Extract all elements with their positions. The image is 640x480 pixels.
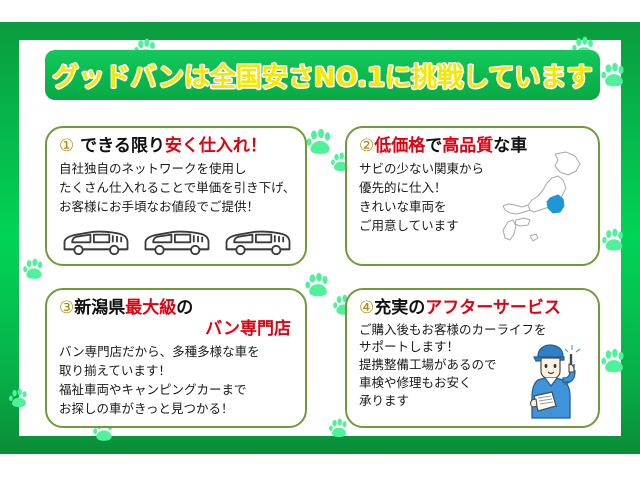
paw-print-icon-center-lower	[304, 272, 332, 300]
panel-3-body-line-3: 福祉車両やキャンピングカーまで	[59, 380, 297, 399]
panel-3-body-line-4: お探しの車がきっと見つかる！	[59, 399, 297, 418]
panel-1-heading-part-1: できる限り	[80, 136, 165, 156]
page-title: グッドバンは全国安さNO.1に挑戦しています	[53, 57, 593, 94]
sparkle-icon	[565, 345, 580, 352]
panel-3-heading-line-2: バン専門店	[47, 320, 305, 340]
feature-panel-4: ④充実のアフターサービス ご購入後もお客様のカーライフを サポートします！ 提携…	[345, 288, 600, 428]
holding-hand	[531, 399, 537, 407]
panel-3-heading-part-2: 最大級	[125, 298, 176, 318]
face	[541, 358, 560, 379]
panel-2-heading-part-2: で	[425, 136, 442, 156]
panel-1-body-line-3: お客様にお手頃なお値段でご提供！	[59, 197, 297, 216]
paw-print-icon-right-lower	[600, 348, 628, 376]
panel-2-heading-part-1: 低価格	[374, 136, 425, 156]
panel-4-heading-part-2: アフターサービス	[425, 298, 561, 318]
panel-1-body: 自社独自のネットワークを使用し たくさん仕入れることで単価を引き下げ、 お客様に…	[47, 157, 305, 216]
panel-1-number: ①	[59, 136, 74, 156]
panel-3-heading: ③新潟県最大級の	[47, 299, 305, 319]
van-icon-3	[223, 228, 293, 258]
panel-2-number: ②	[359, 136, 374, 156]
panel-4-heading-part-1: 充実の	[374, 298, 425, 318]
paw-print-icon-left-edge	[8, 388, 30, 410]
paw-print-icon-right-mid	[601, 228, 627, 254]
japan-map-icon	[500, 150, 592, 254]
feature-panel-3: ③新潟県最大級の バン専門店 バン専門店だから、多種多様な車を 取り揃えています…	[45, 288, 307, 428]
poster-title-banner: グッドバンは全国安さNO.1に挑戦しています	[45, 50, 600, 100]
van-illustration-row	[61, 228, 293, 258]
paw-print-icon-bottom-center	[328, 418, 350, 440]
panel-3-body-line-2: 取り揃えています！	[59, 361, 297, 380]
mechanic-illustration	[524, 340, 586, 422]
feature-panel-1: ① できる限り安く仕入れ！ 自社独自のネットワークを使用し たくさん仕入れること…	[45, 126, 307, 266]
panel-3-heading-part-1: 新潟県	[74, 298, 125, 318]
van-icon-2	[142, 228, 212, 258]
feature-panel-2: ②低価格で高品質な車 サビの少ない関東から 優先的に仕入！ きれいな車両を ご用…	[345, 126, 600, 266]
paw-print-icon-center-top	[305, 128, 335, 158]
panel-4-body-line-1: ご購入後もお客様のカーライフを	[359, 321, 590, 339]
cap	[537, 345, 563, 358]
paw-print-icon-left-lower	[22, 258, 46, 282]
panel-1-heading: ① できる限り安く仕入れ！	[47, 137, 305, 157]
panel-1-body-line-2: たくさん仕入れることで単価を引き下げ、	[59, 178, 297, 197]
paw-print-icon-right-upper	[600, 62, 628, 90]
panel-1-body-line-1: 自社独自のネットワークを使用し	[59, 159, 297, 178]
panel-4-heading: ④充実のアフターサービス	[347, 299, 598, 319]
panel-3-heading-part-3: の	[176, 298, 193, 318]
panel-3-body: バン専門店だから、多種多様な車を 取り揃えています！ 福祉車両やキャンピングカー…	[47, 339, 305, 418]
panel-3-number: ③	[59, 298, 74, 318]
van-icon-1	[61, 228, 131, 258]
panel-2-heading-part-3: 高品質	[442, 136, 493, 156]
panel-3-body-line-1: バン専門店だから、多種多様な車を	[59, 342, 297, 361]
pointing-hand	[569, 364, 574, 372]
panel-4-number: ④	[359, 298, 374, 318]
panel-1-heading-part-2: 安く仕入れ！	[165, 136, 267, 156]
